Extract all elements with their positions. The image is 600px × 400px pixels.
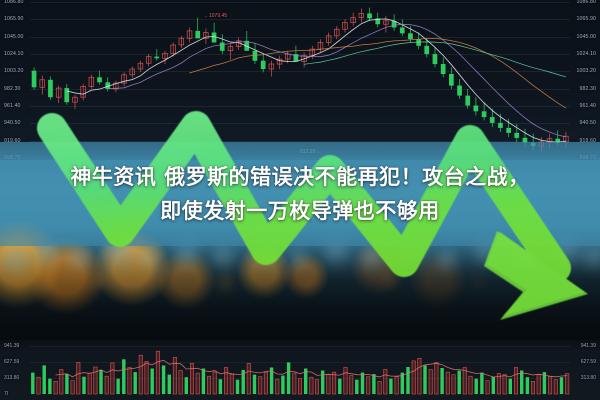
volume-tick-left: 7I — [4, 391, 8, 397]
volume-tick-right: 313.80 — [581, 375, 596, 381]
price-tick-right: 1024.10 — [577, 51, 596, 57]
price-tick-right: 1086.80 — [577, 0, 596, 5]
volume-tick-left: 941.39 — [4, 343, 19, 349]
price-tick-right: 1065.90 — [577, 16, 596, 22]
volume-tick-left: 627.59 — [4, 359, 19, 365]
price-tick-left: 940.50 — [4, 120, 20, 126]
price-tick-right: 940.50 — [580, 120, 596, 126]
price-tick-left: 1065.90 — [4, 16, 23, 22]
price-tick-right: 1003.20 — [577, 68, 596, 74]
screenshot-root: 1086.801086.801065.901065.901045.001045.… — [0, 0, 600, 400]
volume-svg — [0, 340, 600, 400]
price-tick-left: 1086.80 — [4, 0, 23, 5]
price-tick-left: 961.40 — [4, 103, 20, 109]
price-tick-right: 982.30 — [580, 86, 596, 92]
volume-tick-left: 313.80 — [4, 375, 19, 381]
volume-tick-right: 941.39 — [581, 343, 596, 349]
price-tick-right: 961.40 — [580, 103, 596, 109]
candlestick-svg — [0, 0, 600, 160]
price-tick-left: 1003.20 — [4, 68, 23, 74]
price-marker: ←1079.45 — [204, 13, 227, 19]
headline-line-1: 神牛资讯 俄罗斯的错误决不能再犯！攻台之战， — [0, 160, 600, 194]
price-tick-left: 1024.10 — [4, 51, 23, 57]
price-tick-right: 1045.00 — [577, 34, 596, 40]
price-tick-left: 982.30 — [4, 86, 20, 92]
price-tick-left: 1045.00 — [4, 34, 23, 40]
headline-text: 神牛资讯 俄罗斯的错误决不能再犯！攻台之战， 即使发射一万枚导弹也不够用 — [0, 160, 600, 228]
price-chart-panel: 1086.801086.801065.901065.901045.001045.… — [0, 0, 600, 160]
headline-line-2: 即使发射一万枚导弹也不够用 — [0, 194, 600, 228]
volume-chart-panel: 941.39941.39627.59627.59313.80313.807I — [0, 340, 600, 400]
volume-tick-right: 627.59 — [581, 359, 596, 365]
